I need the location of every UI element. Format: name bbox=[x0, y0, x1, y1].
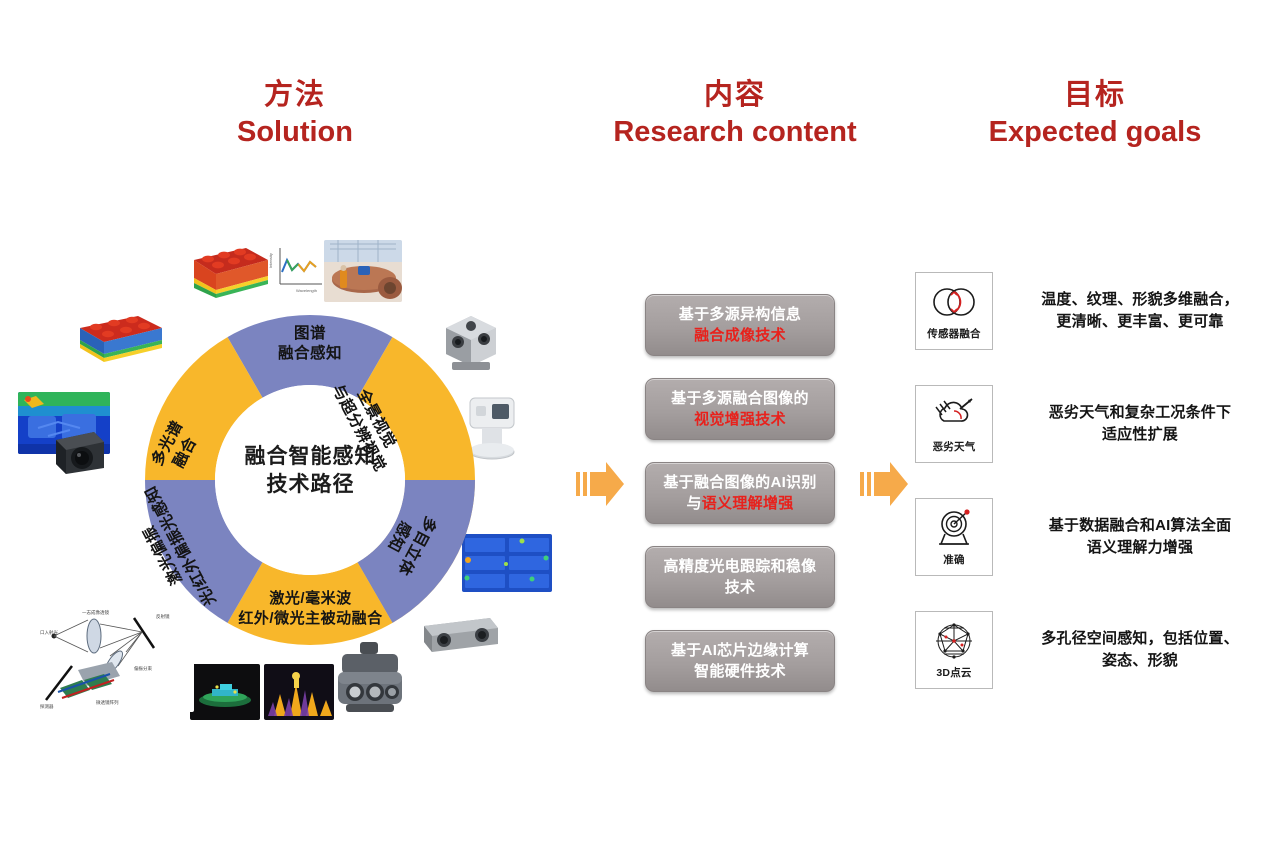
column-header-goals: 目标 Expected goals bbox=[960, 78, 1230, 149]
hyperspectral-cube-thumbnail bbox=[186, 238, 272, 300]
goal-text-bad-weather: 恶劣天气和复杂工况条件下 适应性扩展 bbox=[1015, 402, 1265, 446]
research-box-visual-enhancement-line2: 视觉增强技术 bbox=[671, 409, 809, 430]
goal-row-accuracy: 准确 基于数据融合和AI算法全面 语义理解力增强 bbox=[915, 498, 1265, 576]
svg-text:Intensity: Intensity bbox=[268, 253, 273, 268]
goal-text-point-cloud-line2: 姿态、形貌 bbox=[1015, 650, 1265, 672]
goal-row-point-cloud: 3D点云 多孔径空间感知，包括位置、 姿态、形貌 bbox=[915, 611, 1265, 689]
bad-weather-rain-cloud-icon bbox=[930, 394, 978, 436]
research-box-ai-chip-edge-text: 基于AI芯片边缘计算 智能硬件技术 bbox=[671, 640, 809, 683]
research-box-ai-semantic-prefix: 与 bbox=[686, 495, 701, 512]
research-box-tracking-stabilization-line1: 高精度光电跟踪和稳像 bbox=[663, 556, 816, 577]
goal-icon-card-accuracy: 准确 bbox=[915, 498, 993, 576]
goal-text-sensor-fusion-line2: 更清晰、更丰富、更可靠 bbox=[1015, 311, 1265, 333]
research-box-fusion-imaging[interactable]: 基于多源异构信息 融合成像技术 bbox=[645, 294, 835, 356]
goal-text-point-cloud: 多孔径空间感知，包括位置、 姿态、形貌 bbox=[1015, 628, 1265, 672]
compact-thermal-camera-thumbnail bbox=[48, 424, 110, 480]
svg-text:偏振分束: 偏振分束 bbox=[134, 665, 152, 672]
column-header-content-cn: 内容 bbox=[600, 78, 870, 112]
wheel-label-laser-mmwave: 激光/毫米波 红外/微光主被动融合 bbox=[208, 589, 413, 628]
sensor-fusion-venn-icon bbox=[929, 281, 979, 323]
goal-text-sensor-fusion: 温度、纹理、形貌多维融合， 更清晰、更丰富、更可靠 bbox=[1015, 289, 1265, 333]
goal-icon-card-point-cloud: 3D点云 bbox=[915, 611, 993, 689]
goal-text-accuracy: 基于数据融合和AI算法全面 语义理解力增强 bbox=[1015, 515, 1265, 559]
lidar-point-cloud-thumbnail bbox=[190, 664, 260, 720]
industrial-pipeline-photo-thumbnail bbox=[324, 240, 402, 302]
goal-text-sensor-fusion-line1: 温度、纹理、形貌多维融合， bbox=[1015, 289, 1265, 311]
goal-caption-sensor-fusion: 传感器融合 bbox=[927, 326, 981, 341]
svg-text:口入射光: 口入射光 bbox=[40, 629, 58, 636]
research-box-ai-chip-edge[interactable]: 基于AI芯片边缘计算 智能硬件技术 bbox=[645, 630, 835, 692]
research-box-ai-chip-edge-line1: 基于AI芯片边缘计算 bbox=[671, 640, 809, 661]
accuracy-target-icon bbox=[931, 507, 977, 549]
wheel-label-atlas-fusion: 图谱 融合感知 bbox=[220, 324, 400, 364]
column-header-goals-en: Expected goals bbox=[960, 115, 1230, 149]
research-box-ai-semantic-highlight: 语义理解增强 bbox=[702, 495, 794, 512]
arrow-content-to-goals bbox=[856, 458, 912, 515]
research-box-visual-enhancement[interactable]: 基于多源融合图像的 视觉增强技术 bbox=[645, 378, 835, 440]
column-header-solution: 方法 Solution bbox=[170, 78, 420, 149]
research-box-ai-semantic-text: 基于融合图像的AI识别 与语义理解增强 bbox=[663, 472, 816, 515]
goal-icon-card-sensor-fusion: 传感器融合 bbox=[915, 272, 993, 350]
goal-text-bad-weather-line2: 适应性扩展 bbox=[1015, 424, 1265, 446]
goal-row-bad-weather: 恶劣天气 恶劣天气和复杂工况条件下 适应性扩展 bbox=[915, 385, 1265, 463]
research-box-tracking-stabilization-line2: 技术 bbox=[663, 577, 816, 598]
goal-icon-card-bad-weather: 恶劣天气 bbox=[915, 385, 993, 463]
column-header-goals-cn: 目标 bbox=[960, 78, 1230, 112]
research-box-tracking-stabilization-text: 高精度光电跟踪和稳像 技术 bbox=[663, 556, 816, 599]
svg-text:Wavelength: Wavelength bbox=[296, 288, 317, 293]
arrow-solution-to-content bbox=[572, 458, 628, 515]
wheel-label-laser-mmwave-line1: 激光/毫米波 bbox=[208, 589, 413, 609]
spectrum-plot-thumbnail: Intensity Wavelength bbox=[268, 240, 328, 298]
goal-caption-accuracy: 准确 bbox=[943, 552, 964, 567]
svg-text:微透镜阵列: 微透镜阵列 bbox=[96, 699, 119, 706]
svg-text:探测器: 探测器 bbox=[40, 703, 54, 710]
goal-caption-bad-weather: 恶劣天气 bbox=[933, 439, 976, 454]
wheel-label-atlas-fusion-line2: 融合感知 bbox=[220, 344, 400, 364]
research-box-fusion-imaging-line1: 基于多源异构信息 bbox=[679, 304, 801, 325]
column-header-content-en: Research content bbox=[600, 115, 870, 149]
goal-row-sensor-fusion: 传感器融合 温度、纹理、形貌多维融合， 更清晰、更丰富、更可靠 bbox=[915, 272, 1265, 350]
column-header-content: 内容 Research content bbox=[600, 78, 870, 149]
goal-caption-point-cloud: 3D点云 bbox=[936, 665, 971, 680]
thermal-infrared-scene-thumbnail bbox=[264, 664, 334, 720]
column-header-solution-en: Solution bbox=[170, 115, 420, 149]
goal-text-bad-weather-line1: 恶劣天气和复杂工况条件下 bbox=[1015, 402, 1265, 424]
column-header-solution-cn: 方法 bbox=[170, 78, 420, 112]
wheel-center-line2: 技术路径 bbox=[208, 471, 413, 499]
svg-text:一志成像透镜: 一志成像透镜 bbox=[82, 609, 109, 616]
research-box-fusion-imaging-line2: 融合成像技术 bbox=[679, 325, 801, 346]
goal-text-accuracy-line2: 语义理解力增强 bbox=[1015, 537, 1265, 559]
goal-text-accuracy-line1: 基于数据融合和AI算法全面 bbox=[1015, 515, 1265, 537]
3d-point-cloud-sphere-icon bbox=[932, 620, 976, 662]
wheel-label-atlas-fusion-line1: 图谱 bbox=[220, 324, 400, 344]
research-box-tracking-stabilization[interactable]: 高精度光电跟踪和稳像 技术 bbox=[645, 546, 835, 608]
research-box-ai-semantic-line1: 基于融合图像的AI识别 bbox=[663, 472, 816, 493]
goal-text-point-cloud-line1: 多孔径空间感知，包括位置、 bbox=[1015, 628, 1265, 650]
research-box-ai-semantic[interactable]: 基于融合图像的AI识别 与语义理解增强 bbox=[645, 462, 835, 524]
research-box-visual-enhancement-text: 基于多源融合图像的 视觉增强技术 bbox=[671, 388, 809, 431]
research-box-fusion-imaging-text: 基于多源异构信息 融合成像技术 bbox=[679, 304, 801, 347]
wheel-label-laser-mmwave-line2: 红外/微光主被动融合 bbox=[208, 609, 413, 629]
research-box-ai-semantic-line2: 与语义理解增强 bbox=[663, 493, 816, 514]
research-box-ai-chip-edge-line2: 智能硬件技术 bbox=[671, 661, 809, 682]
solution-wheel: 融合智能感知 技术路径 图谱 融合感知 全景视觉 与超分辨视觉 多目立体 感知 … bbox=[130, 300, 490, 660]
research-box-visual-enhancement-line1: 基于多源融合图像的 bbox=[671, 388, 809, 409]
diagram-canvas: 方法 Solution 内容 Research content 目标 Expec… bbox=[0, 0, 1268, 866]
